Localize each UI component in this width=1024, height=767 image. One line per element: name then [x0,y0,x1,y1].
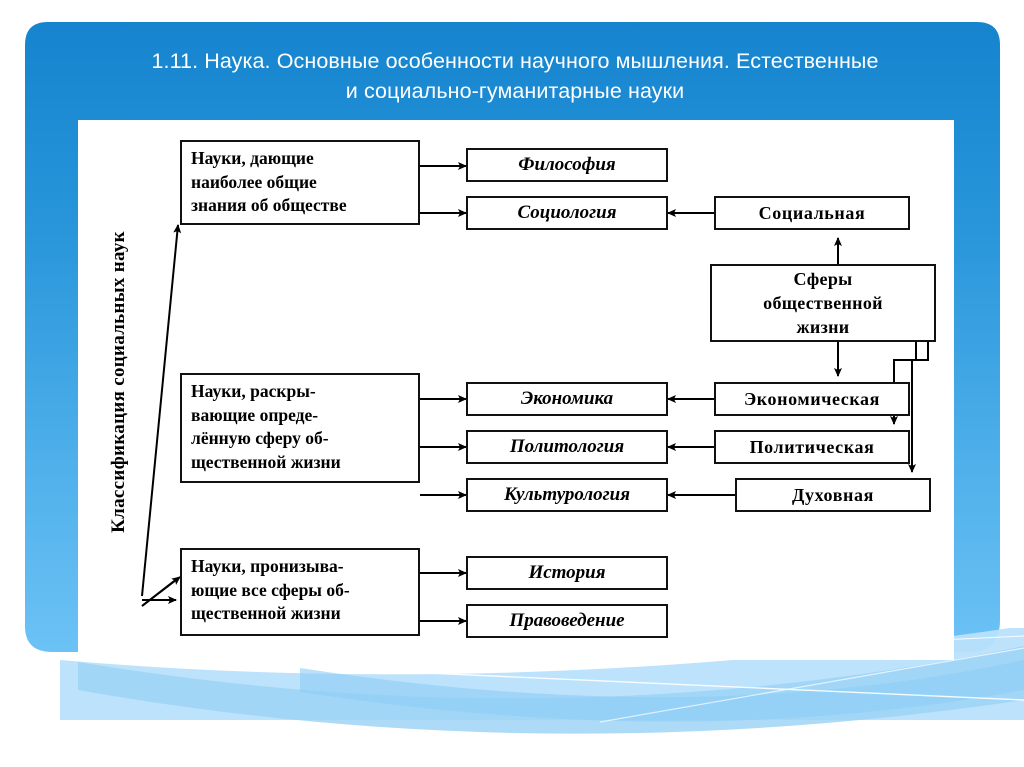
group2-line-3: лённую сферу об- [191,427,412,451]
edge-label-to-group3-b [144,584,182,606]
discipline-box-history[interactable]: История [466,556,668,590]
group3-line-2: ющие все сферы об- [191,579,412,603]
edge-label-to-group3 [142,577,180,606]
group2-line-2: вающие опреде- [191,404,412,428]
group-box-all-spheres-sciences[interactable]: Науки, пронизыва- ющие все сферы об- щес… [180,548,420,636]
classification-diagram: Классификация социальных наук Науки, даю… [78,120,954,660]
group3-line-1: Науки, пронизыва- [191,555,412,579]
discipline-label-economics: Экономика [468,388,666,410]
discipline-label-sociology: Социология [468,202,666,224]
side-label-text: Классификация социальных наук [108,231,130,533]
discipline-label-culturology: Культурология [468,484,666,506]
discipline-box-culturology[interactable]: Культурология [466,478,668,512]
discipline-box-law[interactable]: Правоведение [466,604,668,638]
slide-title-line-1: 1.11. Наука. Основные особенности научно… [151,49,878,73]
hub-line-2: общественной [718,291,928,315]
discipline-box-philosophy[interactable]: Философия [466,148,668,182]
sphere-box-spiritual[interactable]: Духовная [735,478,931,512]
slide-title: 1.11. Наука. Основные особенности научно… [60,46,970,106]
sphere-box-economic[interactable]: Экономическая [714,382,910,416]
group-box-general-sciences[interactable]: Науки, дающие наиболее общие знания об о… [180,140,420,225]
discipline-box-politology[interactable]: Политология [466,430,668,464]
content-panel: Классификация социальных наук Науки, даю… [78,120,954,660]
edge-hub-spiritual [912,342,928,472]
discipline-label-history: История [468,562,666,584]
hub-line-3: жизни [718,315,928,339]
group1-line-1: Науки, дающие [191,147,412,171]
sphere-label-economic: Экономическая [716,389,908,410]
discipline-label-politology: Политология [468,436,666,458]
slide: 1.11. Наука. Основные особенности научно… [0,0,1024,767]
group1-line-3: знания об обществе [191,194,412,218]
sphere-box-political[interactable]: Политическая [714,430,910,464]
sphere-label-social: Социальная [716,203,908,224]
group2-line-4: щественной жизни [191,451,412,475]
sphere-box-social[interactable]: Социальная [714,196,910,230]
hub-line-1: Сферы [718,267,928,291]
discipline-label-philosophy: Философия [468,154,666,176]
group2-line-1: Науки, раскры- [191,380,412,404]
discipline-label-law: Правоведение [468,610,666,632]
group1-line-2: наиболее общие [191,171,412,195]
group-box-sphere-sciences[interactable]: Науки, раскры- вающие опреде- лённую сфе… [180,373,420,483]
side-label-classification: Классификация социальных наук [106,182,132,582]
edge-label-to-group1 [142,225,178,596]
discipline-box-sociology[interactable]: Социология [466,196,668,230]
sphere-label-spiritual: Духовная [737,485,929,506]
slide-title-line-2: и социально-гуманитарные науки [60,76,970,106]
sphere-label-political: Политическая [716,437,908,458]
sphere-hub-box[interactable]: Сферы общественной жизни [710,264,936,342]
group3-line-3: щественной жизни [191,602,412,626]
discipline-box-economics[interactable]: Экономика [466,382,668,416]
